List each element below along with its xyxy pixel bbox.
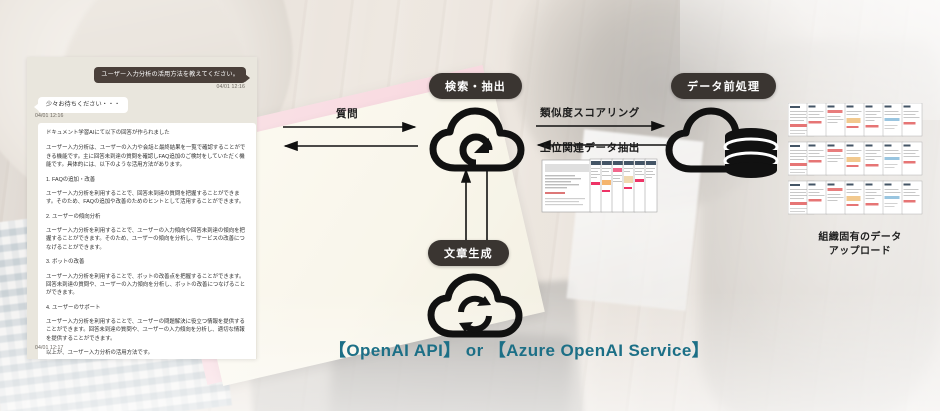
- arrow-label-question: 質問: [336, 106, 358, 121]
- cloud-refresh-icon: [429, 106, 533, 176]
- arrow-label-top-related-extraction: 上位関連データ抽出: [540, 140, 640, 155]
- upload-caption-line1: 組織固有のデータ: [794, 231, 926, 245]
- cloud-sync-icon: [427, 272, 531, 342]
- cloud-database-icon: [665, 105, 787, 179]
- arrow-label-similarity-scoring: 類似度スコアリング: [540, 105, 640, 120]
- node-label-data-preprocessing: データ前処理: [671, 73, 776, 99]
- upload-caption: 組織固有のデータ アップロード: [794, 231, 926, 258]
- document-fan-thumbnails: [541, 156, 659, 214]
- uploaded-documents-grid: [788, 103, 930, 215]
- screenshot-root: ユーザー入力分析の活用方法を教えてください。 04/01 12:16 少々お待ち…: [0, 0, 940, 411]
- api-service-label: 【OpenAI API】 or 【Azure OpenAI Service】: [329, 336, 709, 361]
- node-label-search-extract: 検索・抽出: [429, 73, 522, 99]
- node-label-text-generation: 文章生成: [428, 240, 509, 266]
- upload-caption-line2: アップロード: [794, 245, 926, 259]
